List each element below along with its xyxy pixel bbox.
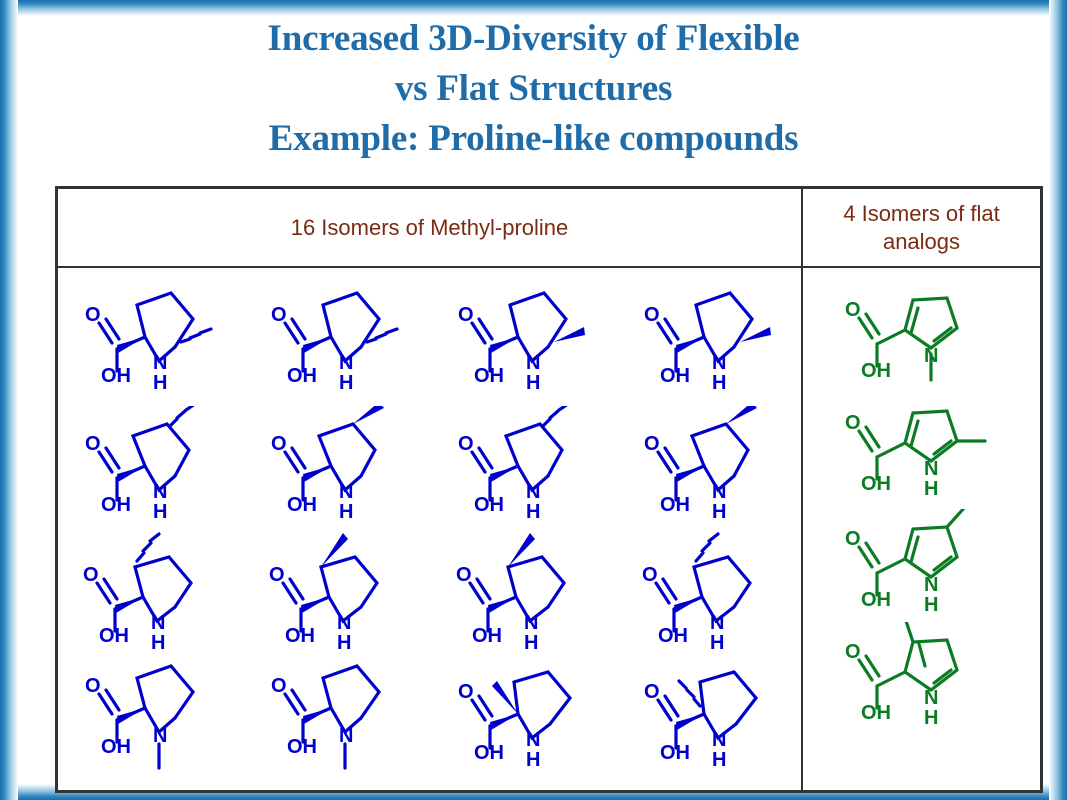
- atom-label-nh-hydrogen: H: [153, 372, 167, 394]
- atom-label-oxygen: O: [644, 304, 660, 326]
- cell-3d-structures: O OH N H: [58, 268, 803, 790]
- atom-label-hydroxyl: OH: [861, 360, 891, 382]
- atom-label-oxygen: O: [271, 433, 287, 455]
- atom-label-nh-hydrogen: H: [153, 501, 167, 523]
- atom-label-hydroxyl: OH: [660, 365, 690, 387]
- atom-label-hydroxyl: OH: [474, 494, 504, 516]
- atom-label-hydroxyl: OH: [101, 736, 131, 758]
- molecule-2-methylproline-a: O OH N H: [444, 658, 604, 776]
- slide-title: Increased 3D-Diversity of Flexible vs Fl…: [0, 14, 1067, 164]
- atom-label-oxygen: O: [456, 564, 472, 586]
- title-line-3: Example: Proline-like compounds: [0, 114, 1067, 164]
- atom-label-nitrogen: N: [524, 612, 538, 634]
- atom-label-nitrogen: N: [153, 352, 167, 374]
- atom-label-hydroxyl: OH: [287, 736, 317, 758]
- table-body-row: O OH N H: [58, 268, 1040, 790]
- atom-label-oxygen: O: [845, 412, 861, 434]
- atom-label-hydroxyl: OH: [472, 625, 502, 647]
- grid-3d-structures: O OH N H: [58, 276, 803, 780]
- atom-label-oxygen: O: [845, 299, 861, 321]
- atom-label-oxygen: O: [642, 564, 658, 586]
- atom-label-oxygen: O: [83, 564, 99, 586]
- atom-label-nh-hydrogen: H: [339, 501, 353, 523]
- atom-label-nitrogen: N: [924, 458, 938, 480]
- molecule-5-methylproline-c: O OH N H: [444, 283, 604, 395]
- isomer-comparison-table: 16 Isomers of Methyl-proline 4 Isomers o…: [55, 186, 1043, 793]
- atom-label-oxygen: O: [845, 528, 861, 550]
- molecule-3-methylproline-d: O OH N H: [630, 531, 790, 651]
- atom-label-oxygen: O: [269, 564, 285, 586]
- atom-label-oxygen: O: [271, 675, 287, 697]
- molecule-1-methylpyrrole-2-carboxylic-acid: O OH N: [839, 286, 1004, 392]
- molecule-3-methylpyrrole-2-carboxylic-acid: O OH N H: [839, 622, 1004, 734]
- molecule-5-methylpyrrole-2-carboxylic-acid: O OH N H: [839, 399, 1004, 505]
- molecule-3-methylproline-a: O OH N H: [71, 531, 231, 651]
- atom-label-nitrogen: N: [339, 352, 353, 374]
- atom-label-nitrogen: N: [526, 729, 540, 751]
- atom-label-nitrogen: N: [339, 725, 353, 747]
- atom-label-nitrogen: N: [712, 729, 726, 751]
- grid-flat-structures: O OH N: [803, 282, 1040, 734]
- atom-label-nh-hydrogen: H: [710, 632, 724, 651]
- title-line-1: Increased 3D-Diversity of Flexible: [0, 14, 1067, 64]
- atom-label-hydroxyl: OH: [474, 742, 504, 764]
- molecule-5-methylproline-b: O OH N H: [257, 283, 417, 395]
- molecule-4-methylproline-d: O OH N H: [630, 406, 790, 524]
- atom-label-nh-hydrogen: H: [924, 594, 938, 616]
- molecule-4-methylproline-c: O OH N H: [444, 406, 604, 524]
- atom-label-nitrogen: N: [924, 687, 938, 709]
- atom-label-oxygen: O: [458, 681, 474, 703]
- atom-label-oxygen: O: [85, 433, 101, 455]
- header-3d-isomers: 16 Isomers of Methyl-proline: [58, 189, 803, 266]
- atom-label-nitrogen: N: [710, 612, 724, 634]
- atom-label-nh-hydrogen: H: [337, 632, 351, 651]
- molecule-4-methylproline-a: O OH N H: [71, 406, 231, 524]
- atom-label-oxygen: O: [85, 304, 101, 326]
- atom-label-hydroxyl: OH: [99, 625, 129, 647]
- atom-label-nh-hydrogen: H: [524, 632, 538, 651]
- table-header-row: 16 Isomers of Methyl-proline 4 Isomers o…: [58, 189, 1040, 268]
- atom-label-nitrogen: N: [924, 345, 938, 367]
- atom-label-oxygen: O: [845, 641, 861, 663]
- atom-label-nitrogen: N: [339, 481, 353, 503]
- atom-label-nh-hydrogen: H: [151, 632, 165, 651]
- atom-label-hydroxyl: OH: [658, 625, 688, 647]
- atom-label-hydroxyl: OH: [101, 494, 131, 516]
- atom-label-hydroxyl: OH: [861, 589, 891, 611]
- title-line-2: vs Flat Structures: [0, 64, 1067, 114]
- atom-label-hydroxyl: OH: [285, 625, 315, 647]
- atom-label-hydroxyl: OH: [287, 494, 317, 516]
- molecule-3-methylproline-c: O OH N H: [444, 531, 604, 651]
- atom-label-hydroxyl: OH: [287, 365, 317, 387]
- atom-label-nitrogen: N: [712, 481, 726, 503]
- molecule-2-methylproline-b: O OH N H: [630, 658, 790, 776]
- atom-label-oxygen: O: [271, 304, 287, 326]
- atom-label-oxygen: O: [644, 681, 660, 703]
- molecule-4-methylproline-b: O OH N H: [257, 406, 417, 524]
- atom-label-nitrogen: N: [526, 352, 540, 374]
- atom-label-nh-hydrogen: H: [526, 501, 540, 523]
- atom-label-nh-hydrogen: H: [526, 749, 540, 771]
- atom-label-nitrogen: N: [337, 612, 351, 634]
- atom-label-oxygen: O: [85, 675, 101, 697]
- atom-label-oxygen: O: [458, 433, 474, 455]
- atom-label-hydroxyl: OH: [861, 702, 891, 724]
- cell-flat-structures: O OH N: [803, 268, 1040, 790]
- atom-label-nh-hydrogen: H: [924, 478, 938, 500]
- atom-label-nh-hydrogen: H: [712, 372, 726, 394]
- atom-label-oxygen: O: [458, 304, 474, 326]
- atom-label-oxygen: O: [644, 433, 660, 455]
- molecule-3-methylproline-b: O OH N H: [257, 531, 417, 651]
- atom-label-nitrogen: N: [153, 481, 167, 503]
- molecule-n-methylproline-a: O OH N: [71, 658, 231, 776]
- molecule-5-methylproline-a: O OH N H: [71, 283, 231, 395]
- header-flat-isomers: 4 Isomers of flat analogs: [803, 189, 1040, 266]
- atom-label-hydroxyl: OH: [474, 365, 504, 387]
- atom-label-hydroxyl: OH: [101, 365, 131, 387]
- molecule-4-methylpyrrole-2-carboxylic-acid: O OH N H: [839, 509, 1004, 621]
- atom-label-nitrogen: N: [151, 612, 165, 634]
- atom-label-nh-hydrogen: H: [526, 372, 540, 394]
- atom-label-nitrogen: N: [153, 725, 167, 747]
- atom-label-hydroxyl: OH: [660, 742, 690, 764]
- atom-label-nh-hydrogen: H: [339, 372, 353, 394]
- atom-label-nitrogen: N: [526, 481, 540, 503]
- atom-label-hydroxyl: OH: [660, 494, 690, 516]
- atom-label-nitrogen: N: [712, 352, 726, 374]
- molecule-5-methylproline-d: O OH N H: [630, 283, 790, 395]
- molecule-n-methylproline-b: O OH N: [257, 658, 417, 776]
- slide-canvas: Increased 3D-Diversity of Flexible vs Fl…: [0, 0, 1067, 800]
- atom-label-nh-hydrogen: H: [712, 749, 726, 771]
- atom-label-nitrogen: N: [924, 574, 938, 596]
- atom-label-nh-hydrogen: H: [712, 501, 726, 523]
- atom-label-nh-hydrogen: H: [924, 707, 938, 729]
- atom-label-hydroxyl: OH: [861, 473, 891, 495]
